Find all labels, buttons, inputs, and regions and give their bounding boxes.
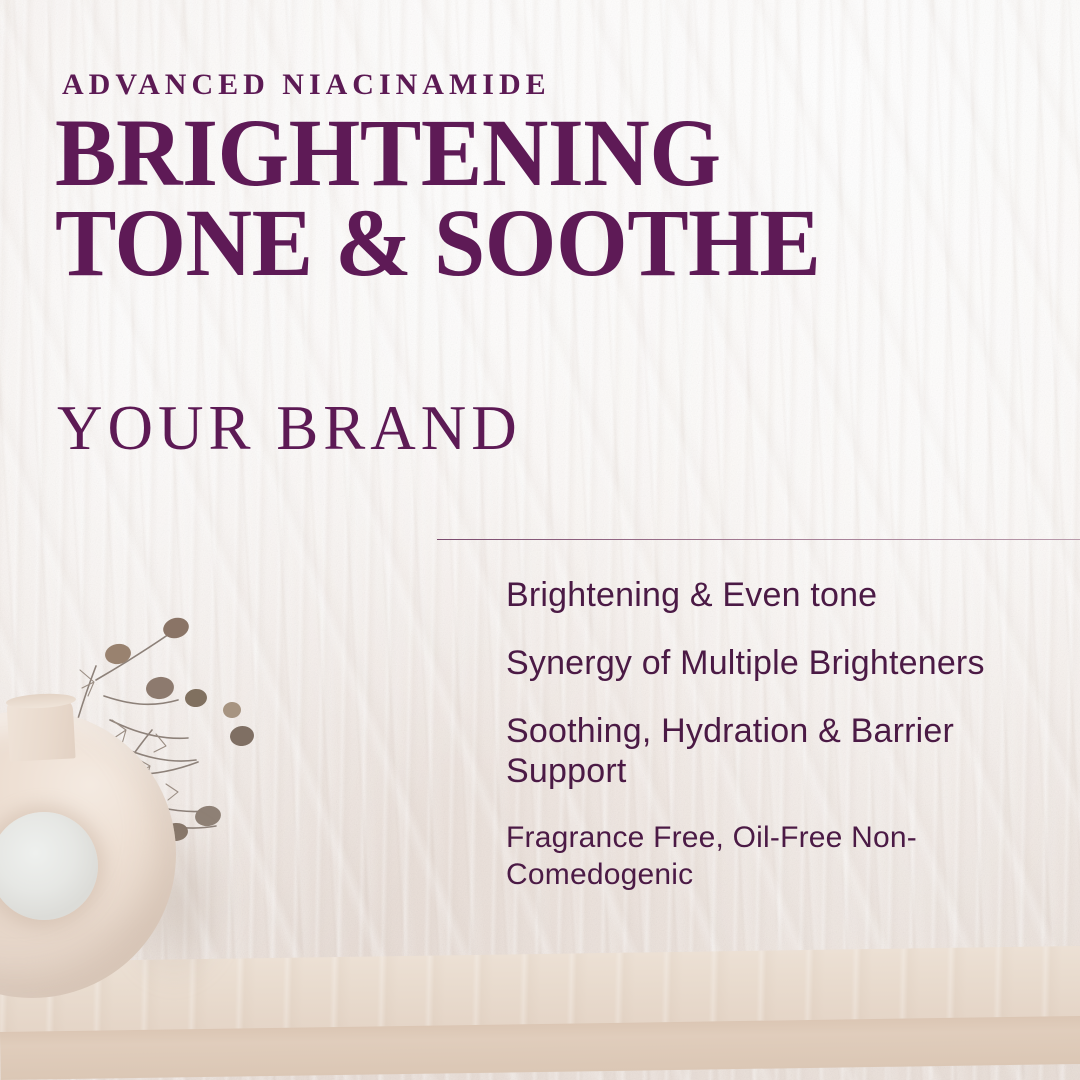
- horizontal-divider: [437, 539, 1080, 540]
- page-title: BRIGHTENING TONE & SOOTHE: [55, 108, 820, 288]
- list-item: Brightening & Even tone: [506, 575, 1026, 615]
- feature-list: Brightening & Even tone Synergy of Multi…: [506, 575, 1026, 893]
- brand-name: YOUR BRAND: [57, 392, 522, 465]
- headline-line-2: TONE & SOOTHE: [55, 198, 820, 288]
- product-marketing-poster: ADVANCED NIACINAMIDE BRIGHTENING TONE & …: [0, 0, 1080, 1080]
- eyebrow-text: ADVANCED NIACINAMIDE: [62, 68, 551, 102]
- list-item: Synergy of Multiple Brighteners: [506, 643, 1026, 683]
- list-item: Fragrance Free, Oil-Free Non-Comedogenic: [506, 819, 1026, 893]
- vase-with-dried-flowers: [0, 520, 380, 1080]
- list-item: Soothing, Hydration & Barrier Support: [506, 711, 1026, 791]
